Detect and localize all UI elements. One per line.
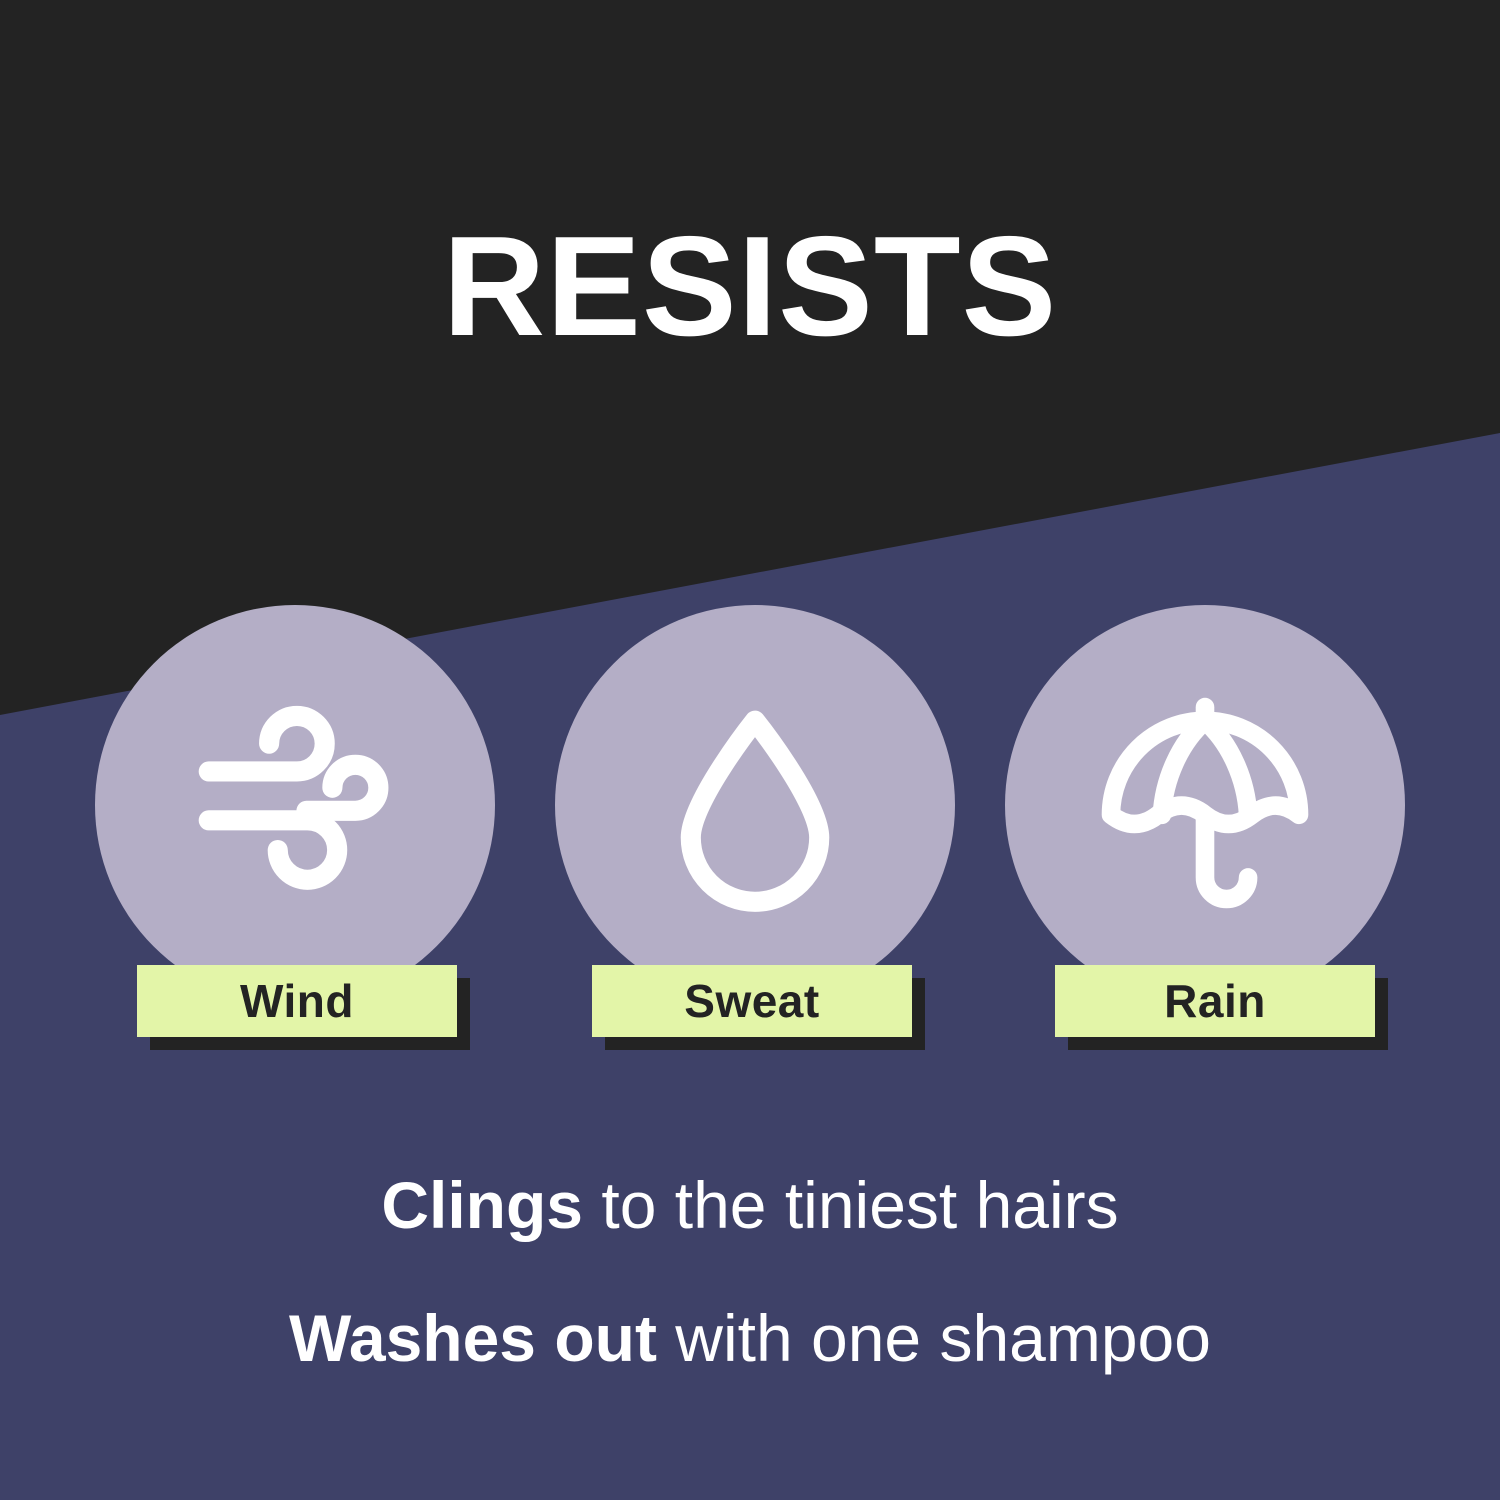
body-copy-line-1-rest: to the tiniest hairs bbox=[583, 1168, 1119, 1242]
icon-circle-wind bbox=[95, 605, 495, 1005]
body-copy-line-2-rest: with one shampoo bbox=[657, 1301, 1211, 1375]
feature-wind: Wind bbox=[95, 605, 495, 1065]
wind-icon bbox=[180, 690, 410, 920]
icon-circle-sweat bbox=[555, 605, 955, 1005]
body-copy-line-2: Washes out with one shampoo bbox=[0, 1305, 1500, 1371]
chip-wind: Wind bbox=[137, 965, 457, 1051]
chip-sweat: Sweat bbox=[592, 965, 912, 1051]
body-copy-line-1-bold: Clings bbox=[381, 1168, 583, 1242]
body-copy-line-2-bold: Washes out bbox=[289, 1301, 657, 1375]
chip-label-sweat: Sweat bbox=[592, 965, 912, 1037]
body-copy-line-1: Clings to the tiniest hairs bbox=[0, 1172, 1500, 1238]
water-drop-icon bbox=[640, 690, 870, 920]
feature-row: Wind Sweat bbox=[0, 605, 1500, 1065]
page-title: RESISTS bbox=[0, 216, 1500, 358]
feature-rain: Rain bbox=[1005, 605, 1405, 1065]
chip-rain: Rain bbox=[1055, 965, 1375, 1051]
umbrella-icon bbox=[1088, 688, 1323, 923]
promo-graphic: RESISTS Wind bbox=[0, 0, 1500, 1500]
icon-circle-rain bbox=[1005, 605, 1405, 1005]
chip-label-wind: Wind bbox=[137, 965, 457, 1037]
feature-sweat: Sweat bbox=[555, 605, 955, 1065]
chip-label-rain: Rain bbox=[1055, 965, 1375, 1037]
